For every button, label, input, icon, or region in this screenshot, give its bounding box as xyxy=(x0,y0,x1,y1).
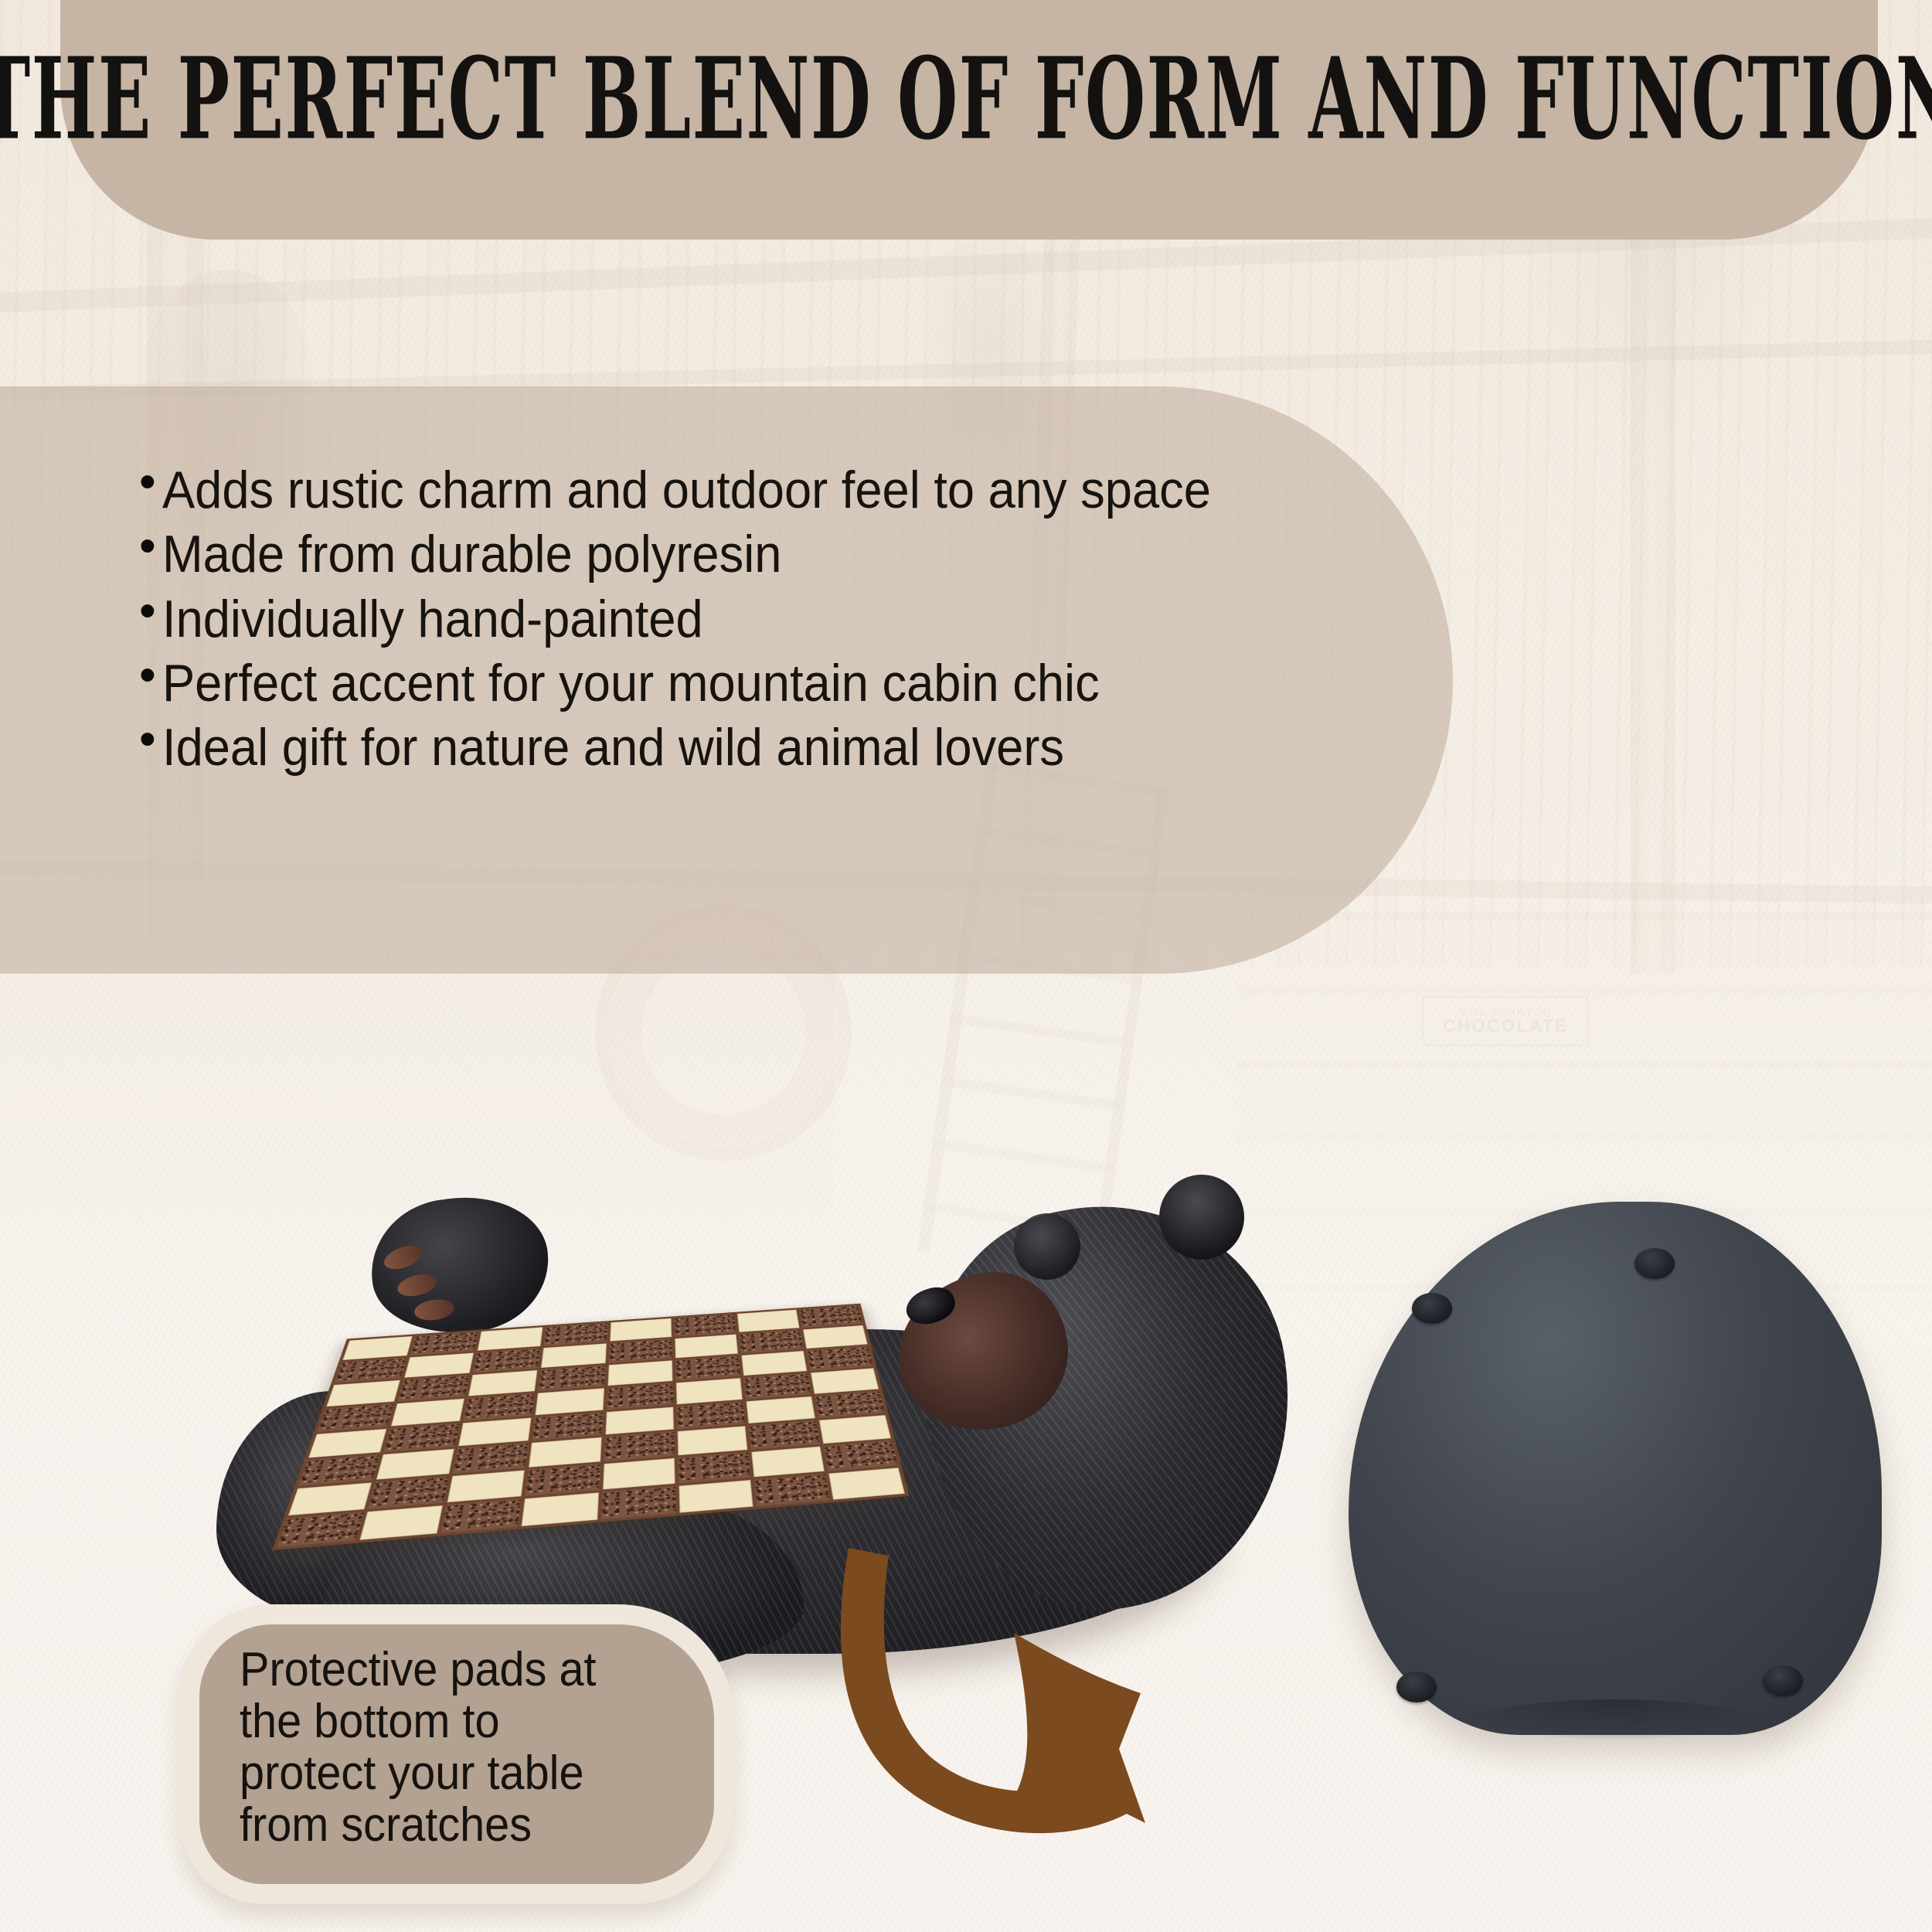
infographic-canvas: WILL WORK FOR CHOCOLATE THE PERFECT BLEN… xyxy=(0,0,1932,1932)
chessboard-square xyxy=(819,1415,891,1444)
bullet-icon: • xyxy=(139,721,162,758)
chessboard-square xyxy=(679,1480,753,1513)
bullet-icon: • xyxy=(139,464,162,501)
feature-label: Adds rustic charm and outdoor feel to an… xyxy=(162,464,1211,517)
bear-ear xyxy=(1014,1213,1080,1280)
chessboard-square xyxy=(803,1325,868,1349)
chessboard-square xyxy=(739,1330,803,1354)
chessboard-square xyxy=(675,1334,738,1358)
chessboard-square xyxy=(318,1403,394,1431)
title-banner: THE PERFECT BLEND OF FORM AND FUNCTION xyxy=(60,0,1878,240)
chessboard-square xyxy=(335,1358,406,1383)
feature-label: Perfect accent for your mountain cabin c… xyxy=(162,657,1100,710)
chessboard-square xyxy=(605,1406,674,1434)
chessboard-square xyxy=(441,1499,522,1533)
protective-pads-callout: Protective pads at the bottom to protect… xyxy=(179,1604,734,1904)
chessboard-square xyxy=(536,1388,604,1415)
chessboard-square xyxy=(384,1423,460,1452)
bullet-icon: • xyxy=(139,528,162,565)
chessboard-square xyxy=(608,1338,672,1362)
chessboard-square xyxy=(751,1447,825,1478)
chessboard-square xyxy=(410,1332,478,1355)
callout-line: from scratches xyxy=(240,1800,656,1852)
chessboard-square xyxy=(828,1468,905,1500)
callout-line: protect your table xyxy=(240,1748,656,1800)
chessboard-square xyxy=(677,1426,747,1455)
chessboard-square xyxy=(288,1482,372,1515)
chessboard-square xyxy=(824,1440,898,1471)
chessboard-square xyxy=(473,1348,540,1372)
chessboard-square xyxy=(404,1352,474,1377)
bullet-icon: • xyxy=(139,657,162,694)
page-title: THE PERFECT BLEND OF FORM AND FUNCTION xyxy=(0,43,1932,156)
chessboard-square xyxy=(741,1351,807,1376)
chessboard-square xyxy=(601,1486,676,1519)
features-list: • Adds rustic charm and outdoor feel to … xyxy=(139,464,1762,786)
chessboard-square xyxy=(541,1343,606,1368)
chessboard-square xyxy=(603,1458,675,1490)
callout-text: Protective pads at the bottom to protect… xyxy=(240,1645,656,1852)
chessboard-square xyxy=(807,1346,873,1371)
chessboard-square xyxy=(746,1396,815,1424)
feature-label: Made from durable polyresin xyxy=(162,528,781,581)
chessboard-square xyxy=(607,1383,673,1410)
chessboard-square xyxy=(453,1443,528,1473)
chessboard-square xyxy=(342,1336,413,1360)
chessboard-square xyxy=(676,1378,743,1404)
chessboard-square xyxy=(737,1310,800,1332)
list-item: • Perfect accent for your mountain cabin… xyxy=(139,657,1762,710)
chessboard-square xyxy=(464,1393,535,1420)
chessboard-square xyxy=(815,1391,885,1418)
chessboard-square xyxy=(326,1380,400,1406)
protective-pad xyxy=(1763,1665,1803,1696)
chessboard-square xyxy=(308,1428,387,1458)
feature-label: Individually hand-painted xyxy=(162,593,703,646)
chessboard-square xyxy=(376,1449,454,1480)
chessboard-square xyxy=(539,1365,605,1390)
callout-line: Protective pads at xyxy=(240,1645,656,1696)
chessboard-square xyxy=(529,1437,601,1468)
chessboard-square xyxy=(359,1505,443,1540)
protective-pad xyxy=(1396,1672,1437,1702)
chessboard-square xyxy=(368,1476,448,1509)
chessboard-square xyxy=(522,1492,599,1526)
feature-label: Ideal gift for nature and wild animal lo… xyxy=(162,721,1064,774)
chessboard-square xyxy=(447,1471,525,1503)
chessboard-square xyxy=(478,1327,543,1350)
chessboard-square xyxy=(468,1370,538,1396)
chessboard-square xyxy=(526,1464,600,1496)
chessboard-square xyxy=(277,1512,364,1547)
chessboard-square xyxy=(675,1355,740,1381)
chessboard-square xyxy=(458,1417,532,1446)
callout-line: the bottom to xyxy=(240,1696,656,1748)
protective-pad xyxy=(1634,1248,1675,1279)
chessboard-square xyxy=(610,1318,672,1342)
chessboard-square xyxy=(604,1432,674,1462)
list-item: • Ideal gift for nature and wild animal … xyxy=(139,721,1762,774)
list-item: • Adds rustic charm and outdoor feel to … xyxy=(139,464,1762,517)
chessboard-square xyxy=(674,1314,736,1336)
chessboard-square xyxy=(398,1375,470,1401)
chessboard-square xyxy=(678,1452,750,1483)
chessboard-square xyxy=(749,1420,820,1450)
bullet-icon: • xyxy=(139,593,162,630)
chessboard-square xyxy=(754,1474,830,1506)
protective-pad xyxy=(1412,1293,1452,1324)
chessboard-square xyxy=(532,1412,603,1440)
chessboard-square xyxy=(743,1372,811,1399)
chessboard-square xyxy=(607,1360,672,1386)
chessboard-square xyxy=(544,1323,607,1346)
chessboard-square xyxy=(298,1455,379,1486)
chessboard-square xyxy=(811,1368,879,1393)
curved-arrow-icon xyxy=(742,1542,1221,1905)
chessboard-square xyxy=(676,1401,744,1429)
chessboard-square xyxy=(799,1305,862,1328)
list-item: • Individually hand-painted xyxy=(139,593,1762,646)
chessboard-square xyxy=(391,1398,464,1426)
list-item: • Made from durable polyresin xyxy=(139,528,1762,581)
